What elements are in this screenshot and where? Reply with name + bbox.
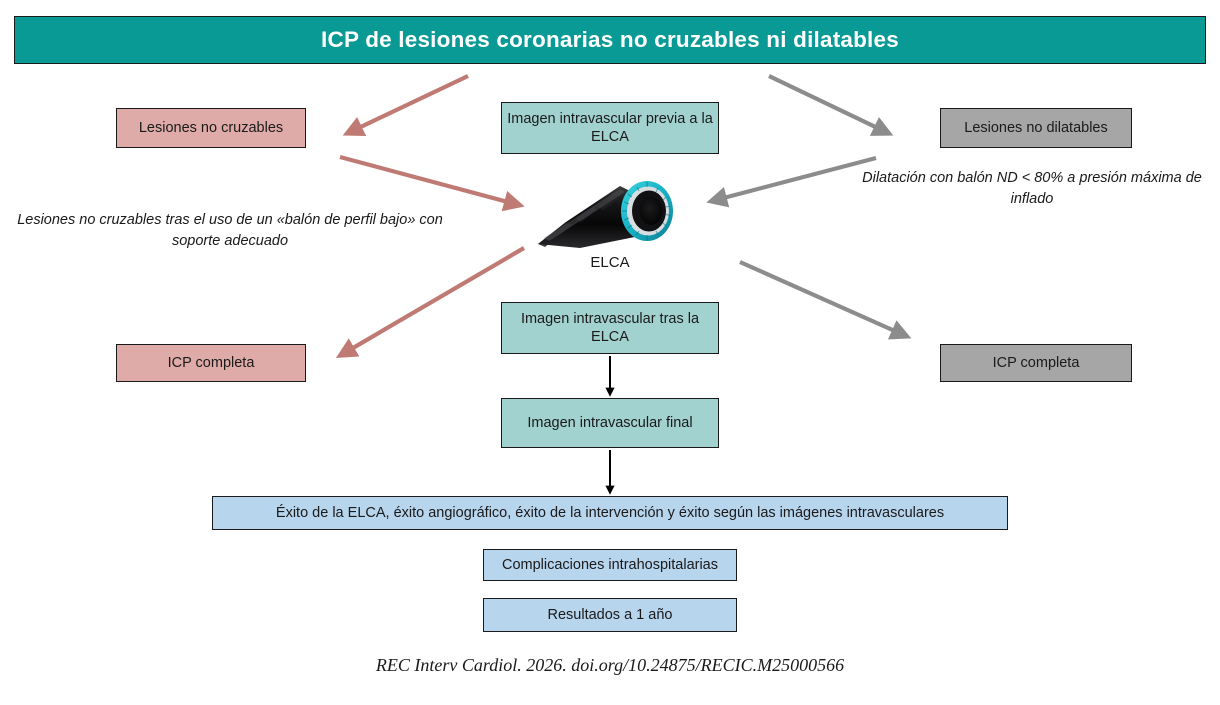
node-imagen-intravascular-tras: Imagen intravascular tras la ELCA xyxy=(501,302,719,354)
elca-device-group: ELCA xyxy=(536,178,684,278)
annotation-dilatacion-balon: Dilatación con balón ND < 80% a presión … xyxy=(862,168,1202,210)
node-lesiones-no-cruzables: Lesiones no cruzables xyxy=(116,108,306,148)
page-title: ICP de lesiones coronarias no cruzables … xyxy=(14,16,1206,64)
arrow-lesiones-no-dilatables-to-elca xyxy=(712,158,876,201)
node-imagen-intravascular-final: Imagen intravascular final xyxy=(501,398,719,448)
node-lesiones-no-dilatables: Lesiones no dilatables xyxy=(940,108,1132,148)
arrow-elca-to-icp-completa-left xyxy=(341,248,524,355)
arrow-elca-to-icp-completa-right xyxy=(740,262,906,336)
elca-label: ELCA xyxy=(536,254,684,271)
node-icp-completa-right: ICP completa xyxy=(940,344,1132,382)
node-exito-elca: Éxito de la ELCA, éxito angiográfico, éx… xyxy=(212,496,1008,530)
annotation-lesiones-no-cruzables: Lesiones no cruzables tras el uso de un … xyxy=(10,210,450,252)
diagram-canvas: ICP de lesiones coronarias no cruzables … xyxy=(0,0,1220,705)
node-resultados-1-ano: Resultados a 1 año xyxy=(483,598,737,632)
arrow-title-to-lesiones-no-cruzables xyxy=(348,76,468,133)
arrow-lesiones-no-cruzables-to-elca xyxy=(340,157,519,205)
node-icp-completa-left: ICP completa xyxy=(116,344,306,382)
node-imagen-intravascular-previa: Imagen intravascular previa a la ELCA xyxy=(501,102,719,154)
laser-catheter-icon xyxy=(536,178,684,250)
arrow-title-to-lesiones-no-dilatables xyxy=(769,76,888,133)
footer-citation: REC Interv Cardiol. 2026. doi.org/10.248… xyxy=(0,655,1220,676)
node-complicaciones-intrahospitalarias: Complicaciones intrahospitalarias xyxy=(483,549,737,581)
